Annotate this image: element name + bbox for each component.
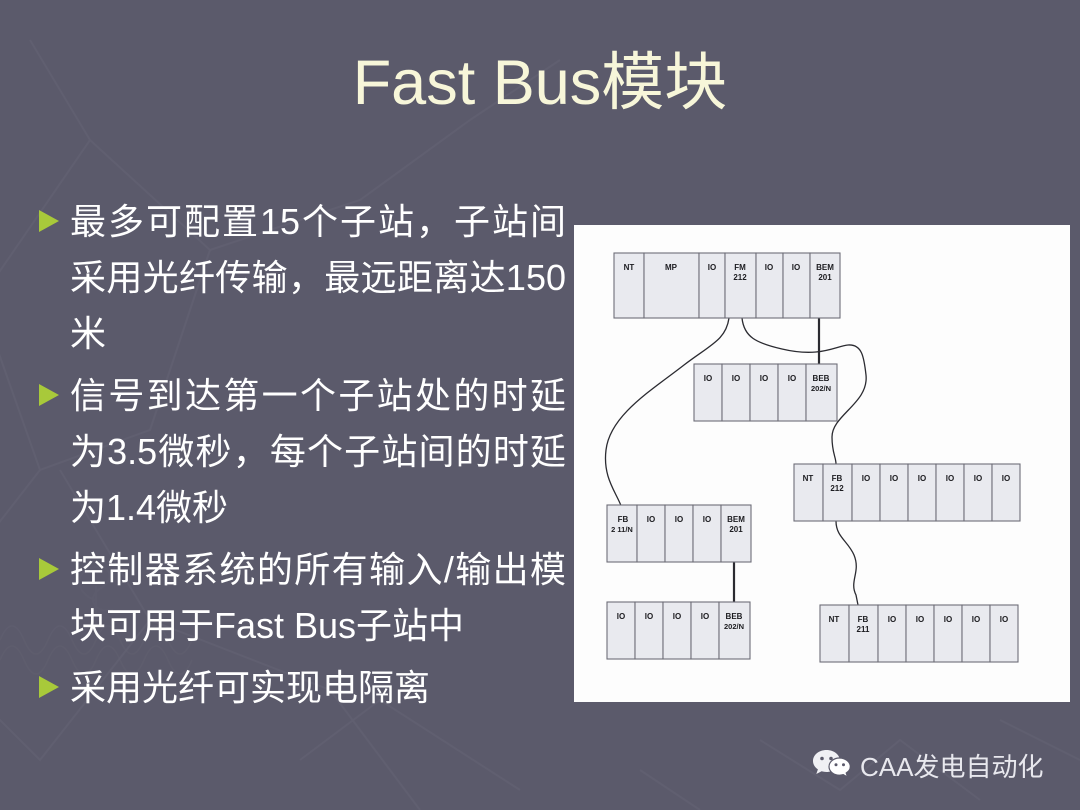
bullet-text: 采用光纤可实现电隔离 xyxy=(70,660,566,716)
module-label: IO xyxy=(1002,474,1010,483)
module-slot: FM 212 xyxy=(725,253,756,318)
module-slot: IO xyxy=(722,364,750,421)
module-label: IO xyxy=(946,474,954,483)
module-label: BEB xyxy=(813,374,830,383)
bullet-text: 信号到达第一个子站处的时延为3.5微秒，每个子站间的时延为1.4微秒 xyxy=(70,368,566,536)
module-slot: NT xyxy=(820,605,849,662)
module-label: IO xyxy=(916,615,924,624)
module-slot: IO xyxy=(694,364,722,421)
module-slot: IO xyxy=(878,605,906,662)
module-slot: IO xyxy=(663,602,691,659)
module-label: IO xyxy=(617,612,625,621)
module-sublabel: 2 11/N xyxy=(611,525,633,534)
module-slot: IO xyxy=(607,602,635,659)
bullet-text: 控制器系统的所有输入/输出模块可用于Fast Bus子站中 xyxy=(70,542,566,654)
module-label: IO xyxy=(1000,615,1008,624)
list-item: 信号到达第一个子站处的时延为3.5微秒，每个子站间的时延为1.4微秒 xyxy=(36,368,566,536)
module-label: IO xyxy=(708,263,716,272)
module-label: IO xyxy=(788,374,796,383)
module-slot: IO xyxy=(880,464,908,521)
module-slot: IO xyxy=(691,602,719,659)
rack-top-controller: NT MP IO FM 212 IO xyxy=(614,253,840,318)
rack-fastbus-station-left: FB 2 11/N IO IO IO BEM 2 xyxy=(607,505,751,562)
module-label: IO xyxy=(918,474,926,483)
module-slot: IO xyxy=(852,464,880,521)
triangle-bullet-icon xyxy=(36,674,66,700)
module-slot: IO xyxy=(665,505,693,562)
wechat-footer: CAA发电自动化 xyxy=(812,748,1043,785)
module-sublabel: 212 xyxy=(733,273,747,282)
module-label: IO xyxy=(732,374,740,383)
module-slot: IO xyxy=(635,602,663,659)
module-label: IO xyxy=(974,474,982,483)
triangle-bullet-icon xyxy=(36,382,66,408)
module-label: IO xyxy=(703,515,711,524)
bullet-text: 最多可配置15个子站，子站间采用光纤传输，最远距离达150米 xyxy=(70,194,566,362)
module-slot: IO xyxy=(750,364,778,421)
rack-io-expansion-top: IO IO IO IO BEB 202/N xyxy=(694,364,837,421)
module-label: IO xyxy=(765,263,773,272)
module-slot: IO xyxy=(964,464,992,521)
module-label: IO xyxy=(792,263,800,272)
module-label: NT xyxy=(624,263,635,272)
module-label: IO xyxy=(675,515,683,524)
module-label: IO xyxy=(701,612,709,621)
module-label: IO xyxy=(888,615,896,624)
module-slot: IO xyxy=(756,253,783,318)
module-label: FB xyxy=(618,515,629,524)
module-slot: BEM 201 xyxy=(810,253,840,318)
rack-fastbus-station-right-upper: NT FB 212 IO IO IO xyxy=(794,464,1020,521)
module-sublabel: 212 xyxy=(830,484,844,493)
module-label: IO xyxy=(972,615,980,624)
module-slot: NT xyxy=(614,253,644,318)
module-slot: IO xyxy=(693,505,721,562)
module-sublabel: 201 xyxy=(818,273,832,282)
triangle-bullet-icon xyxy=(36,556,66,582)
module-label: BEB xyxy=(726,612,743,621)
module-slot: IO xyxy=(906,605,934,662)
list-item: 采用光纤可实现电隔离 xyxy=(36,660,566,716)
module-label: IO xyxy=(890,474,898,483)
module-label: IO xyxy=(704,374,712,383)
bullet-list: 最多可配置15个子站，子站间采用光纤传输，最远距离达150米 信号到达第一个子站… xyxy=(36,194,566,722)
module-label: FM xyxy=(734,263,746,272)
module-label: NT xyxy=(803,474,814,483)
module-slot: IO xyxy=(637,505,665,562)
module-label: IO xyxy=(944,615,952,624)
module-label: MP xyxy=(665,263,678,272)
module-label: IO xyxy=(645,612,653,621)
module-label: FB xyxy=(832,474,843,483)
module-label: NT xyxy=(829,615,840,624)
module-label: BEM xyxy=(727,515,745,524)
list-item: 控制器系统的所有输入/输出模块可用于Fast Bus子站中 xyxy=(36,542,566,654)
module-slot: IO xyxy=(783,253,810,318)
module-slot: IO xyxy=(936,464,964,521)
module-label: IO xyxy=(647,515,655,524)
module-slot: IO xyxy=(962,605,990,662)
slide-canvas: Fast Bus模块 最多可配置15个子站，子站间采用光纤传输，最远距离达150… xyxy=(0,0,1080,810)
module-slot: IO xyxy=(699,253,725,318)
module-slot: IO xyxy=(908,464,936,521)
module-slot: MP xyxy=(644,253,699,318)
module-sublabel: 202/N xyxy=(724,622,744,631)
module-slot: FB 2 11/N xyxy=(607,505,637,562)
list-item: 最多可配置15个子站，子站间采用光纤传输，最远距离达150米 xyxy=(36,194,566,362)
page-title: Fast Bus模块 xyxy=(0,47,1080,119)
module-label: IO xyxy=(862,474,870,483)
module-slot: FB 211 xyxy=(849,605,878,662)
module-slot: NT xyxy=(794,464,823,521)
module-slot: IO xyxy=(934,605,962,662)
rack-io-expansion-bottom: IO IO IO IO BEB 202/N xyxy=(607,602,750,659)
module-label: IO xyxy=(760,374,768,383)
module-slot: BEM 201 xyxy=(721,505,751,562)
module-slot: FB 212 xyxy=(823,464,852,521)
module-slot: IO xyxy=(992,464,1020,521)
module-slot: BEB 202/N xyxy=(719,602,750,659)
wechat-icon xyxy=(812,748,852,785)
wechat-account-label: CAA发电自动化 xyxy=(860,752,1043,782)
fastbus-topology-diagram: NT MP IO FM 212 IO xyxy=(574,225,1070,702)
rack-fastbus-station-right-lower: NT FB 211 IO IO IO xyxy=(820,605,1018,662)
module-slot: IO xyxy=(778,364,806,421)
module-sublabel: 202/N xyxy=(811,384,831,393)
module-slot: BEB 202/N xyxy=(806,364,837,421)
module-label: BEM xyxy=(816,263,834,272)
module-sublabel: 211 xyxy=(857,625,870,634)
module-label: IO xyxy=(673,612,681,621)
module-sublabel: 201 xyxy=(729,525,743,534)
module-label: FB xyxy=(858,615,869,624)
module-slot: IO xyxy=(990,605,1018,662)
triangle-bullet-icon xyxy=(36,208,66,234)
